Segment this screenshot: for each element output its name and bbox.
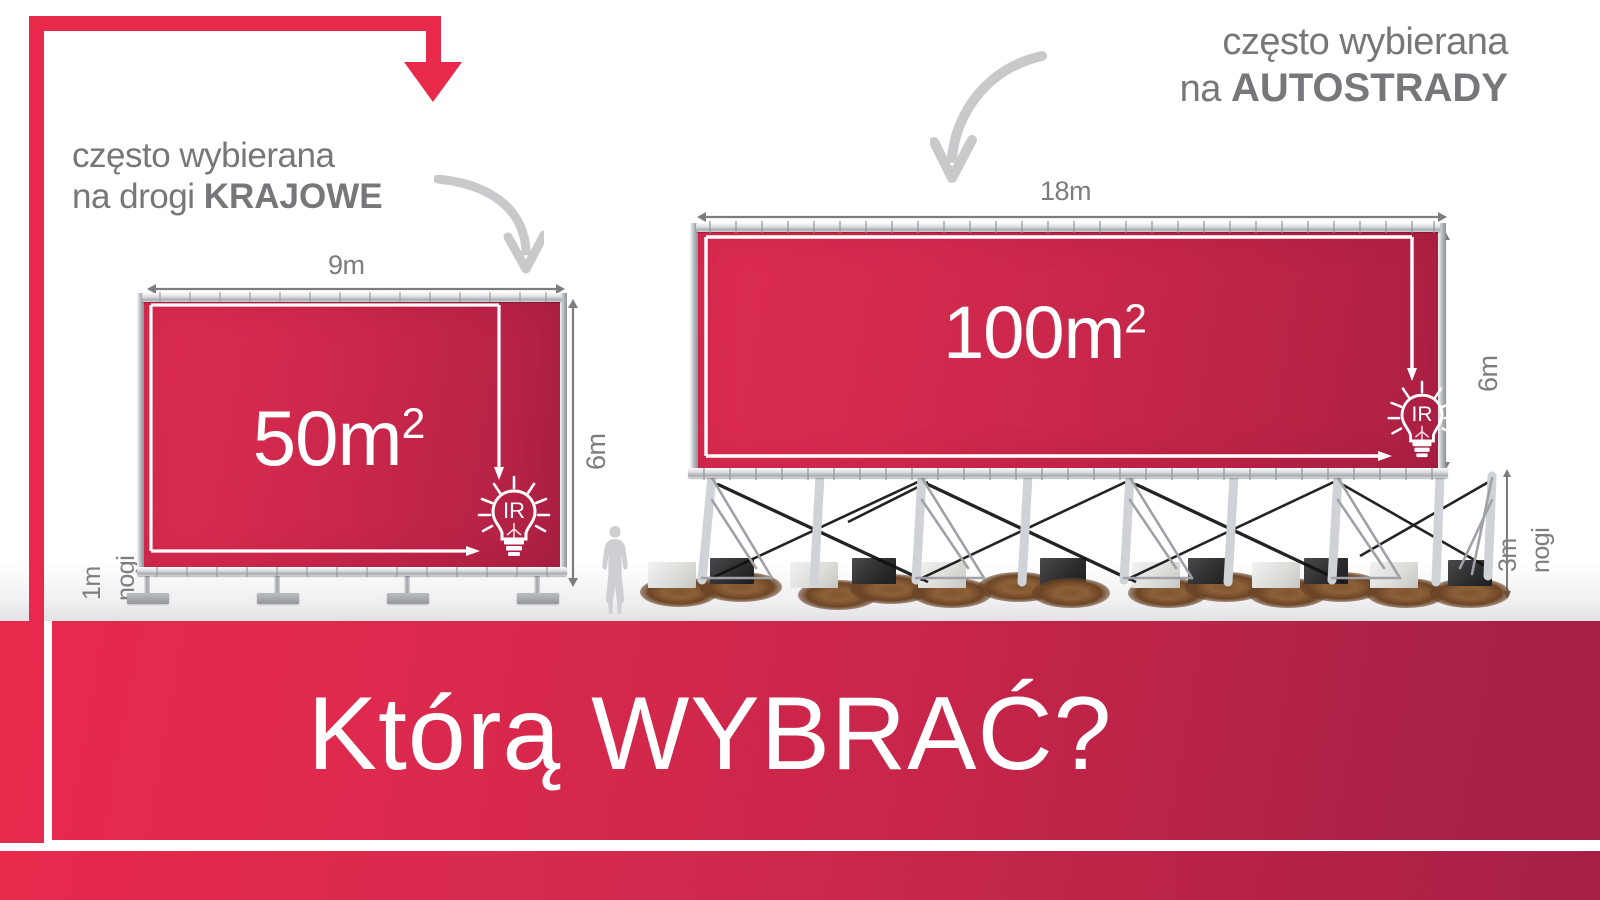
billboard-large-truss-group — [660, 470, 1540, 600]
annotation-left-line2-normal: na drogi — [72, 177, 204, 216]
dimension-label-height-small: 6m — [581, 433, 612, 470]
banner-bottom-strip — [0, 848, 1600, 900]
arrow-down-icon — [404, 62, 462, 102]
billboard-large-bottom-bungees — [688, 466, 1448, 482]
curved-arrow-icon — [434, 175, 544, 285]
billboard-large-area-exponent: 2 — [1124, 295, 1147, 341]
billboard-small-top-bungees — [142, 291, 562, 305]
dimension-label-width-small: 9m — [328, 250, 365, 281]
page-title: Którą WYBRAĆ? — [0, 621, 1600, 848]
annotation-left-line1: często wybierana — [72, 135, 383, 176]
billboard-small-foot-1 — [127, 593, 169, 604]
dimension-label-width-large: 18m — [1040, 176, 1091, 207]
billboard-small-foot-4 — [517, 593, 559, 604]
billboard-large-area-value: 100m — [943, 291, 1124, 374]
billboard-large[interactable]: 100m2 IR — [696, 228, 1440, 468]
svg-text:IR: IR — [503, 498, 525, 523]
billboard-large-top-bungees — [696, 220, 1440, 236]
dimension-line-height-small — [566, 298, 580, 588]
infographic-canvas: często wybierana na drogi KRAJOWE często… — [0, 0, 1600, 900]
billboard-small-foot-2 — [257, 593, 299, 604]
lightbulb-ir-icon: IR — [1382, 378, 1462, 462]
billboard-small-area-value: 50m — [253, 394, 402, 482]
billboard-small[interactable]: 50m2 IR — [142, 297, 562, 567]
red-frame-horizontal — [29, 16, 441, 31]
annotation-right-line1: często wybierana — [1180, 20, 1508, 65]
arrow-down-icon-stem — [426, 16, 441, 64]
annotation-left-line2-bold: KRAJOWE — [204, 177, 383, 216]
billboard-small-bottom-bungees — [137, 565, 567, 579]
annotation-left: często wybierana na drogi KRAJOWE — [72, 135, 383, 218]
dimension-label-height-large: 6m — [1473, 355, 1504, 392]
billboard-small-foot-3 — [387, 593, 429, 604]
human-silhouette-icon — [596, 524, 634, 616]
annotation-left-line2: na drogi KRAJOWE — [72, 176, 383, 217]
curved-arrow-icon — [930, 50, 1050, 195]
billboard-large-area-label: 100m2 — [696, 290, 1440, 375]
annotation-right-line2-bold: AUTOSTRADY — [1231, 66, 1508, 110]
annotation-right: często wybierana na AUTOSTRADY — [1180, 20, 1508, 112]
lightbulb-ir-icon: IR — [472, 473, 556, 561]
billboard-small-area-label: 50m2 — [142, 393, 562, 484]
svg-text:IR: IR — [1412, 403, 1433, 426]
dimension-label-legs-height-small: 1m — [78, 566, 107, 600]
annotation-right-line2-normal: na — [1180, 68, 1231, 110]
billboard-small-area-exponent: 2 — [401, 400, 425, 448]
annotation-right-line2: na AUTOSTRADY — [1180, 65, 1508, 112]
